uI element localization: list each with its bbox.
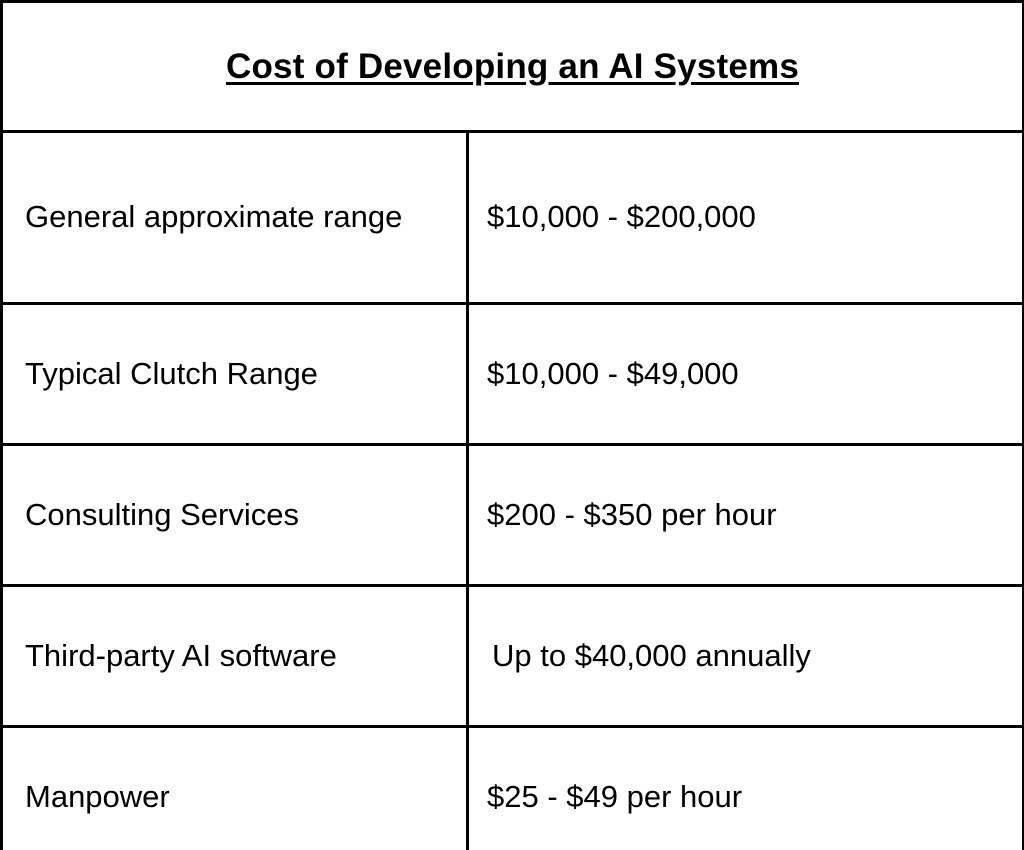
cell-text: Typical Clutch Range (25, 353, 452, 396)
table-title-row: Cost of Developing an AI Systems (2, 2, 1024, 132)
table-row: General approximate range $10,000 - $200… (2, 132, 1024, 304)
cell-text: Up to $40,000 annually (492, 635, 1008, 678)
row-value-consulting-services: $200 - $350 per hour (468, 445, 1024, 586)
row-value-third-party-ai-software: Up to $40,000 annually (468, 586, 1024, 727)
table-row: Typical Clutch Range $10,000 - $49,000 (2, 304, 1024, 445)
row-label-typical-clutch-range: Typical Clutch Range (2, 304, 468, 445)
table-row: Consulting Services $200 - $350 per hour (2, 445, 1024, 586)
row-value-general-approximate-range: $10,000 - $200,000 (468, 132, 1024, 304)
cell-text: Third-party AI software (25, 635, 452, 678)
cell-text: $200 - $350 per hour (487, 494, 1008, 537)
table-row: Manpower $25 - $49 per hour (2, 727, 1024, 850)
cell-text: $10,000 - $200,000 (487, 196, 1008, 239)
cell-text: General approximate range (25, 196, 452, 239)
page-title: Cost of Developing an AI Systems (226, 46, 799, 88)
row-label-consulting-services: Consulting Services (2, 445, 468, 586)
cost-table: Cost of Developing an AI Systems General… (0, 0, 1024, 850)
table-row: Third-party AI software Up to $40,000 an… (2, 586, 1024, 727)
page-root: Cost of Developing an AI Systems General… (0, 0, 1024, 850)
cell-text: Manpower (25, 776, 452, 819)
row-value-typical-clutch-range: $10,000 - $49,000 (468, 304, 1024, 445)
row-label-manpower: Manpower (2, 727, 468, 850)
cell-text: $10,000 - $49,000 (487, 353, 1008, 396)
cell-text: Consulting Services (25, 494, 452, 537)
row-label-third-party-ai-software: Third-party AI software (2, 586, 468, 727)
row-label-general-approximate-range: General approximate range (2, 132, 468, 304)
table-title-cell: Cost of Developing an AI Systems (2, 2, 1024, 132)
cell-text: $25 - $49 per hour (487, 776, 1008, 819)
row-value-manpower: $25 - $49 per hour (468, 727, 1024, 850)
